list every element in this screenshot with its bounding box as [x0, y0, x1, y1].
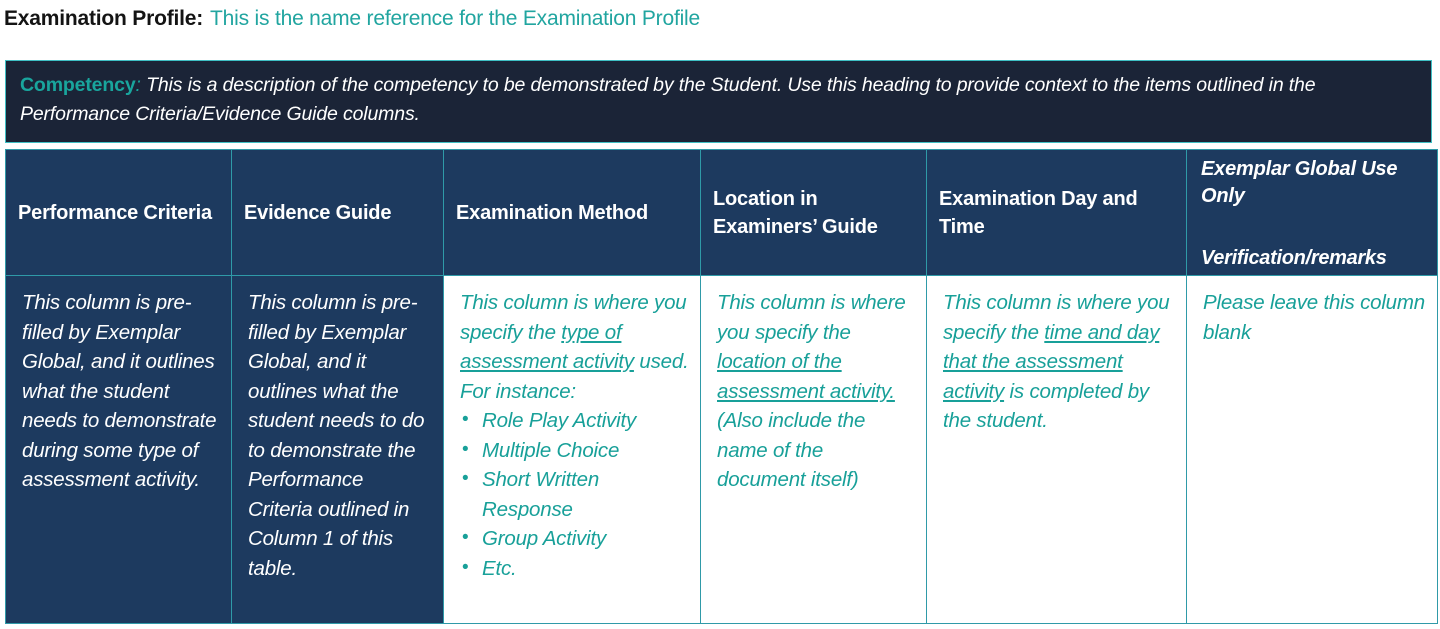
competency-colon: :	[136, 74, 141, 96]
competency-description: This is a description of the competency …	[20, 74, 1315, 125]
exemplar-global-text: Please leave this column blank	[1203, 288, 1427, 347]
location-underlined: location of the assessment activity.	[717, 350, 895, 403]
table-header-row: Performance Criteria Evidence Guide Exam…	[6, 150, 1438, 276]
list-item: Etc.	[460, 554, 690, 584]
competency-label: Competency	[20, 74, 136, 96]
cell-examination-method: This column is where you specify the typ…	[444, 276, 701, 624]
column-header-location-in-examiners-guide: Location in Examiners’ Guide	[701, 150, 927, 276]
competency-text: Competency: This is a description of the…	[20, 71, 1419, 129]
cell-performance-criteria: This column is pre-filled by Exemplar Gl…	[6, 276, 232, 624]
location-text-part1: This column is where you specify the	[717, 291, 906, 344]
examination-method-lead-part2: used.	[634, 350, 689, 373]
examination-method-lead: This column is where you specify the typ…	[460, 288, 690, 377]
examination-profile-table: Performance Criteria Evidence Guide Exam…	[5, 149, 1438, 624]
column-header-label-bottom: Verification/remarks	[1201, 245, 1427, 271]
examination-method-list: Role Play Activity Multiple Choice Short…	[460, 406, 690, 583]
competency-banner: Competency: This is a description of the…	[5, 60, 1432, 143]
examination-profile-heading: Examination Profile: This is the name re…	[4, 2, 1434, 36]
column-header-examination-day-and-time: Examination Day and Time	[927, 150, 1187, 276]
column-header-examination-method: Examination Method	[444, 150, 701, 276]
column-header-label-top: Exemplar Global Use Only	[1201, 156, 1427, 210]
profile-value: This is the name reference for the Exami…	[210, 7, 700, 31]
cell-evidence-guide: This column is pre-filled by Exemplar Gl…	[232, 276, 444, 624]
column-header-label: Evidence Guide	[244, 199, 433, 227]
cell-location-in-examiners-guide: This column is where you specify the loc…	[701, 276, 927, 624]
column-header-exemplar-global-use-only: Exemplar Global Use Only Verification/re…	[1187, 150, 1438, 276]
column-header-performance-criteria: Performance Criteria	[6, 150, 232, 276]
examination-profile-page: Examination Profile: This is the name re…	[0, 0, 1440, 629]
column-header-evidence-guide: Evidence Guide	[232, 150, 444, 276]
cell-exemplar-global-use-only: Please leave this column blank	[1187, 276, 1438, 624]
location-text: This column is where you specify the loc…	[717, 288, 916, 406]
performance-criteria-text: This column is pre-filled by Exemplar Gl…	[22, 288, 221, 495]
list-item: Short Written Response	[460, 465, 690, 524]
location-note: (Also include the name of the document i…	[717, 406, 916, 495]
column-header-label: Performance Criteria	[18, 199, 221, 227]
table-row: This column is pre-filled by Exemplar Gl…	[6, 276, 1438, 624]
table-body: This column is pre-filled by Exemplar Gl…	[6, 276, 1438, 624]
column-header-label: Location in Examiners’ Guide	[713, 185, 916, 241]
list-item: Multiple Choice	[460, 436, 690, 466]
day-time-text: This column is where you specify the tim…	[943, 288, 1176, 436]
list-item: Group Activity	[460, 524, 690, 554]
list-item: Role Play Activity	[460, 406, 690, 436]
column-header-label: Examination Method	[456, 199, 690, 227]
cell-examination-day-and-time: This column is where you specify the tim…	[927, 276, 1187, 624]
column-header-label: Examination Day and Time	[939, 185, 1176, 241]
examination-method-for-instance: For instance:	[460, 377, 690, 407]
profile-label: Examination Profile:	[4, 7, 203, 31]
evidence-guide-text: This column is pre-filled by Exemplar Gl…	[248, 288, 433, 583]
